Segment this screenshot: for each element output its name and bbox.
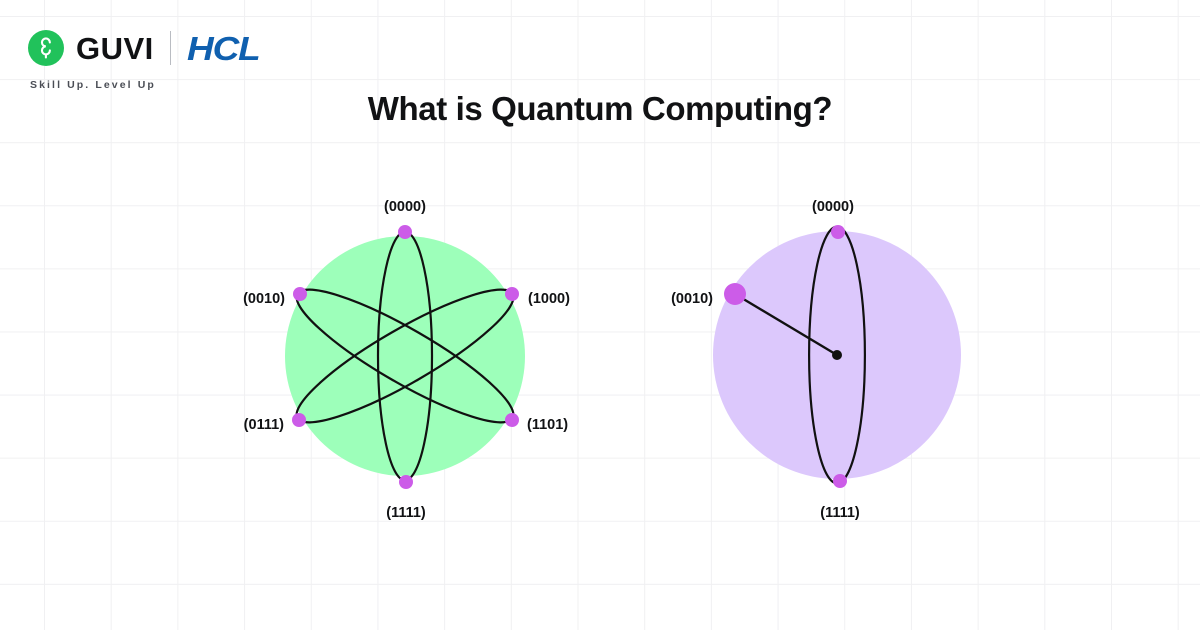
superposition-sphere-label-1000: (1000) bbox=[528, 291, 570, 307]
quantum-state-diagram: (0000)(0010)(1000)(0111)(1101)(1111)(000… bbox=[0, 0, 1200, 630]
superposition-sphere-node-1000[interactable] bbox=[505, 287, 519, 301]
collapsed-sphere-center-dot bbox=[832, 350, 842, 360]
superposition-sphere-label-0010: (0010) bbox=[243, 291, 285, 307]
superposition-sphere-node-1111[interactable] bbox=[399, 475, 413, 489]
collapsed-sphere-node-1111[interactable] bbox=[833, 474, 847, 488]
superposition-sphere-label-1101: (1101) bbox=[527, 417, 568, 433]
superposition-sphere-node-1101[interactable] bbox=[505, 413, 519, 427]
collapsed-state-sphere: (0000)(0010)(1111) bbox=[671, 199, 961, 521]
superposition-sphere-node-0010[interactable] bbox=[293, 287, 307, 301]
superposition-sphere-node-0000[interactable] bbox=[398, 225, 412, 239]
collapsed-sphere-label-1111: (1111) bbox=[820, 505, 860, 521]
superposition-sphere-body bbox=[285, 236, 525, 476]
superposition-sphere-node-0111[interactable] bbox=[292, 413, 306, 427]
collapsed-sphere-node-0000[interactable] bbox=[831, 225, 845, 239]
collapsed-sphere-label-0010: (0010) bbox=[671, 291, 713, 307]
collapsed-sphere-node-0010[interactable] bbox=[724, 283, 746, 305]
superposition-sphere-label-1111: (1111) bbox=[386, 505, 426, 521]
superposition-sphere-label-0111: (0111) bbox=[244, 417, 284, 433]
collapsed-sphere-label-0000: (0000) bbox=[812, 199, 854, 215]
superposition-sphere-label-0000: (0000) bbox=[384, 199, 426, 215]
superposition-state-sphere: (0000)(0010)(1000)(0111)(1101)(1111) bbox=[243, 199, 570, 521]
